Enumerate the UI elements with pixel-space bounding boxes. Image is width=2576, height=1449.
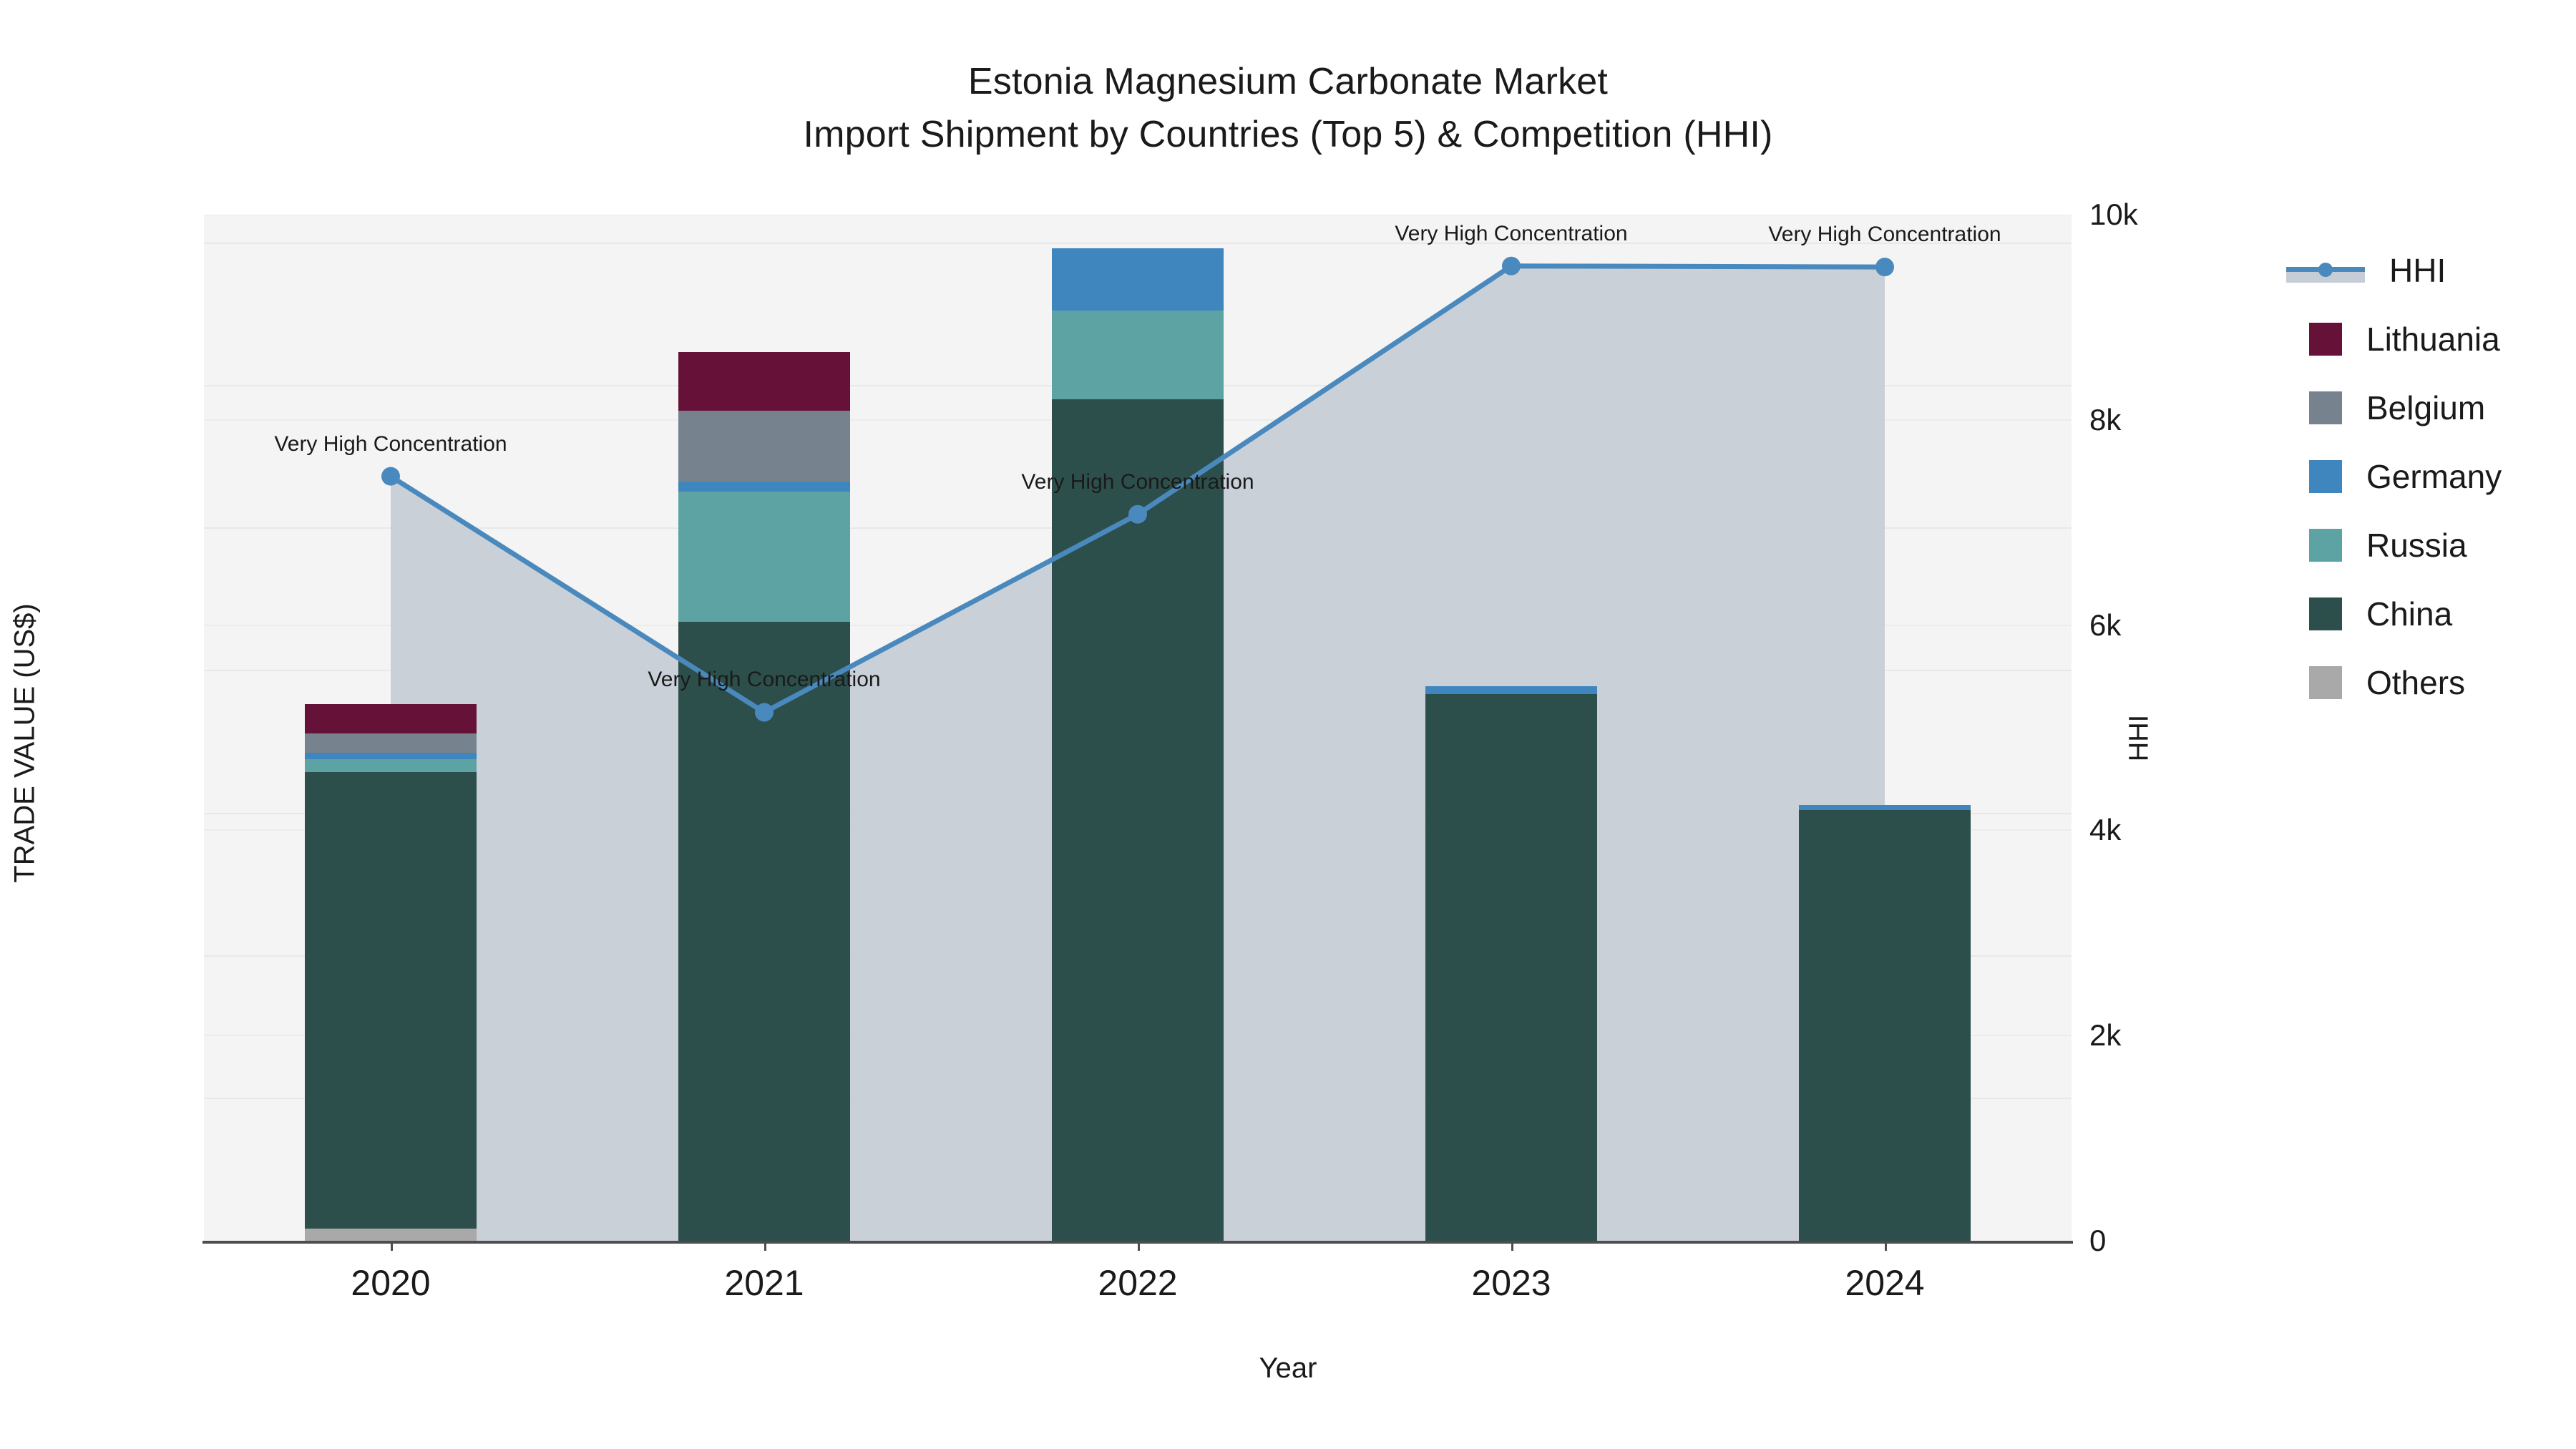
hhi-annotation-2021: Very High Concentration — [648, 668, 880, 692]
x-tick-mark — [1138, 1241, 1140, 1251]
chart-canvas: Estonia Magnesium Carbonate Market Impor… — [0, 0, 2576, 1449]
legend-line-marker — [2286, 254, 2365, 287]
y-axis-left-label: TRADE VALUE (US$) — [9, 386, 42, 1101]
chart-title-line2: Import Shipment by Countries (Top 5) & C… — [0, 109, 2576, 162]
y2-tick-label: 6k — [2089, 608, 2121, 643]
plot-area — [204, 215, 2072, 1241]
bar-segment-lithuania[interactable] — [305, 704, 477, 733]
legend-item-germany[interactable]: Germany — [2286, 442, 2572, 511]
legend: HHILithuaniaBelgiumGermanyRussiaChinaOth… — [2286, 236, 2572, 717]
hhi-annotation-2020: Very High Concentration — [274, 432, 507, 457]
bar-segment-germany[interactable] — [305, 753, 477, 759]
bar-2023[interactable] — [1425, 215, 1597, 1241]
hhi-annotation-2022: Very High Concentration — [1021, 470, 1254, 494]
bar-segment-russia[interactable] — [1052, 311, 1224, 399]
y2-tick-label: 4k — [2089, 813, 2121, 847]
legend-item-russia[interactable]: Russia — [2286, 511, 2572, 580]
x-tick-label-2022: 2022 — [1098, 1262, 1177, 1304]
y2-tick-label: 2k — [2089, 1018, 2121, 1053]
y-axis-right-label: HHI — [2124, 595, 2155, 882]
legend-label: Belgium — [2366, 389, 2485, 427]
bar-segment-china[interactable] — [678, 622, 850, 1241]
legend-swatch — [2309, 597, 2342, 630]
bar-segment-china[interactable] — [1052, 399, 1224, 1241]
bar-2022[interactable] — [1052, 215, 1224, 1241]
legend-item-others[interactable]: Others — [2286, 648, 2572, 717]
legend-label: Lithuania — [2366, 320, 2500, 358]
legend-item-belgium[interactable]: Belgium — [2286, 374, 2572, 442]
bar-2021[interactable] — [678, 215, 850, 1241]
legend-swatch — [2309, 391, 2342, 424]
legend-label: Others — [2366, 663, 2465, 702]
legend-item-china[interactable]: China — [2286, 580, 2572, 648]
bar-segment-others[interactable] — [305, 1229, 477, 1241]
x-tick-label-2021: 2021 — [724, 1262, 804, 1304]
y2-tick-label: 0 — [2089, 1224, 2106, 1258]
bar-segment-belgium[interactable] — [678, 411, 850, 482]
bar-segment-lithuania[interactable] — [678, 352, 850, 411]
chart-title: Estonia Magnesium Carbonate Market Impor… — [0, 56, 2576, 162]
bar-segment-china[interactable] — [1425, 694, 1597, 1241]
bar-segment-germany[interactable] — [1052, 248, 1224, 311]
x-tick-mark — [1885, 1241, 1887, 1251]
legend-label: HHI — [2389, 251, 2446, 290]
x-axis-label: Year — [0, 1352, 2576, 1385]
bar-segment-germany[interactable] — [1425, 686, 1597, 694]
x-tick-mark — [391, 1241, 393, 1251]
hhi-annotation-2023: Very High Concentration — [1395, 222, 1627, 246]
legend-swatch — [2309, 460, 2342, 493]
legend-label: Russia — [2366, 526, 2467, 565]
x-tick-mark — [764, 1241, 766, 1251]
legend-swatch — [2309, 323, 2342, 356]
bar-segment-germany[interactable] — [1799, 805, 1971, 810]
legend-item-hhi[interactable]: HHI — [2286, 236, 2572, 305]
legend-swatch — [2309, 529, 2342, 562]
hhi-annotation-2024: Very High Concentration — [1768, 223, 2001, 247]
legend-item-lithuania[interactable]: Lithuania — [2286, 305, 2572, 374]
x-tick-label-2020: 2020 — [351, 1262, 430, 1304]
legend-label: Germany — [2366, 457, 2502, 496]
bar-2020[interactable] — [305, 215, 477, 1241]
bar-segment-china[interactable] — [305, 772, 477, 1229]
bar-segment-belgium[interactable] — [305, 733, 477, 753]
bar-2024[interactable] — [1799, 215, 1971, 1241]
bar-segment-china[interactable] — [1799, 810, 1971, 1241]
x-tick-label-2024: 2024 — [1845, 1262, 1924, 1304]
x-tick-mark — [1511, 1241, 1513, 1251]
legend-label: China — [2366, 595, 2452, 633]
y2-tick-label: 8k — [2089, 403, 2121, 437]
y2-tick-label: 10k — [2089, 197, 2138, 232]
chart-title-line1: Estonia Magnesium Carbonate Market — [968, 61, 1608, 102]
bar-segment-germany[interactable] — [678, 482, 850, 492]
bar-segment-russia[interactable] — [305, 759, 477, 772]
legend-swatch — [2309, 666, 2342, 699]
x-tick-label-2023: 2023 — [1471, 1262, 1551, 1304]
bar-segment-russia[interactable] — [678, 492, 850, 621]
